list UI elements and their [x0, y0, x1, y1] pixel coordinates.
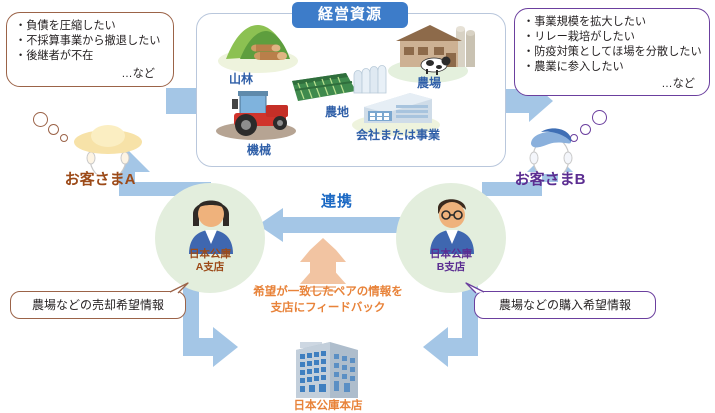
feedback-text: 希望が一致したペアの情報を 支店にフィードバック — [238, 285, 418, 316]
list-item: 事業規模を拡大したい — [523, 15, 701, 30]
resource-label-nouchi: 農地 — [306, 105, 368, 119]
customer-a-needs-list: 負債を圧縮したい 不採算事業から撤退したい 後継者が不在 — [15, 19, 165, 64]
feedback-line2: 支店にフィードバック — [238, 301, 418, 317]
customer-a-needs-bubble: 負債を圧縮したい 不採算事業から撤退したい 後継者が不在 …など — [6, 12, 174, 87]
list-item: 不採算事業から撤退したい — [15, 34, 165, 49]
barn-cow-icon — [388, 25, 475, 83]
tractor-icon — [216, 91, 296, 140]
callout-sell-tail — [168, 281, 192, 303]
forest-logs-icon — [218, 25, 298, 73]
customer-b-needs-list: 事業規模を拡大したい リレー栽培がしたい 防疫対策としてほ場を分散したい 農業に… — [523, 15, 701, 75]
list-item: 後継者が不在 — [15, 49, 165, 64]
resource-badge: 経営資源 — [292, 2, 408, 28]
arrow-hq-feedback-up — [300, 238, 346, 292]
farmer-cap-avatar — [505, 116, 601, 174]
customer-b-needs-bubble: 事業規模を拡大したい リレー栽培がしたい 防疫対策としてほ場を分散したい 農業に… — [514, 8, 710, 96]
male-staff-glasses-avatar — [424, 192, 480, 254]
feedback-line1: 希望が一致したペアの情報を — [238, 285, 418, 301]
callout-buy-info: 農場などの購入希望情報 — [474, 291, 656, 319]
customer-a-needs-etc: …など — [15, 65, 165, 81]
female-staff-avatar — [183, 192, 239, 254]
customer-b-needs-etc: …など — [523, 75, 701, 91]
list-item: 負債を圧縮したい — [15, 19, 165, 34]
branch-b-line1: 日本公庫 — [396, 248, 506, 261]
customer-a-label: お客さまA — [40, 168, 160, 189]
callout-sell-info: 農場などの売却希望情報 — [10, 291, 186, 319]
farmland-greenhouse-icon — [292, 66, 386, 102]
branch-b-line2: B支店 — [396, 261, 506, 274]
list-item: リレー栽培がしたい — [523, 30, 701, 45]
branch-b-label: 日本公庫 B支店 — [396, 248, 506, 273]
thought-dot-mid-a — [48, 124, 59, 135]
farmer-straw-hat-avatar — [60, 118, 156, 174]
branch-a-line1: 日本公庫 — [155, 248, 265, 261]
thought-dot-large-a — [33, 112, 48, 127]
link-label: 連携 — [285, 190, 389, 211]
customer-b-label: お客さまB — [490, 168, 610, 189]
callout-buy-tail — [462, 281, 486, 303]
resource-label-kaisha-text: 会社または事業 — [356, 128, 440, 142]
diagram-canvas: 経営資源 山林 農地 農場 機械 会社または事業 負債を圧縮したい 不採算事業か… — [0, 0, 715, 413]
branch-a-label: 日本公庫 A支店 — [155, 248, 265, 273]
headquarters-label: 日本公庫本店 — [255, 397, 401, 413]
office-building-icon — [286, 336, 370, 400]
resource-label-noujou: 農場 — [398, 76, 460, 90]
branch-a-line2: A支店 — [155, 261, 265, 274]
resource-label-sanrin: 山林 — [206, 72, 276, 86]
list-item: 防疫対策としてほ場を分散したい — [523, 45, 701, 60]
resource-label-kikai: 機械 — [228, 143, 290, 157]
resource-label-kaisha: 会社または事業 — [350, 129, 446, 143]
list-item: 農業に参入したい — [523, 60, 701, 75]
